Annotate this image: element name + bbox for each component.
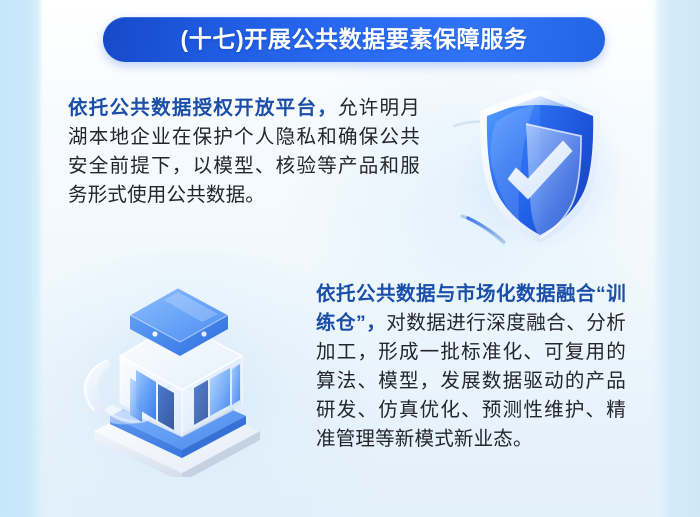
left-edge-strip [0, 0, 43, 517]
section-1-lead-text: 依托公共数据授权开放平台， [68, 97, 338, 119]
title-banner: (十七)开展公共数据要素保障服务 [103, 17, 605, 62]
page-title: (十七)开展公共数据要素保障服务 [181, 28, 528, 51]
data-cube-icon [52, 272, 292, 477]
shield-check-icon [448, 78, 628, 253]
right-edge-strip [653, 0, 700, 517]
infographic-card: (十七)开展公共数据要素保障服务 依托公共数据授权开放平台，允许明月湖本地企业在… [0, 0, 700, 517]
section-public-data-platform-text: 依托公共数据授权开放平台，允许明月湖本地企业在保护个人隐私和确保公共安全前提下，… [68, 94, 420, 210]
section-training-warehouse-text: 依托公共数据与市场化数据融合“训练仓”，对数据进行深度融合、分析加工，形成一批标… [316, 280, 626, 454]
